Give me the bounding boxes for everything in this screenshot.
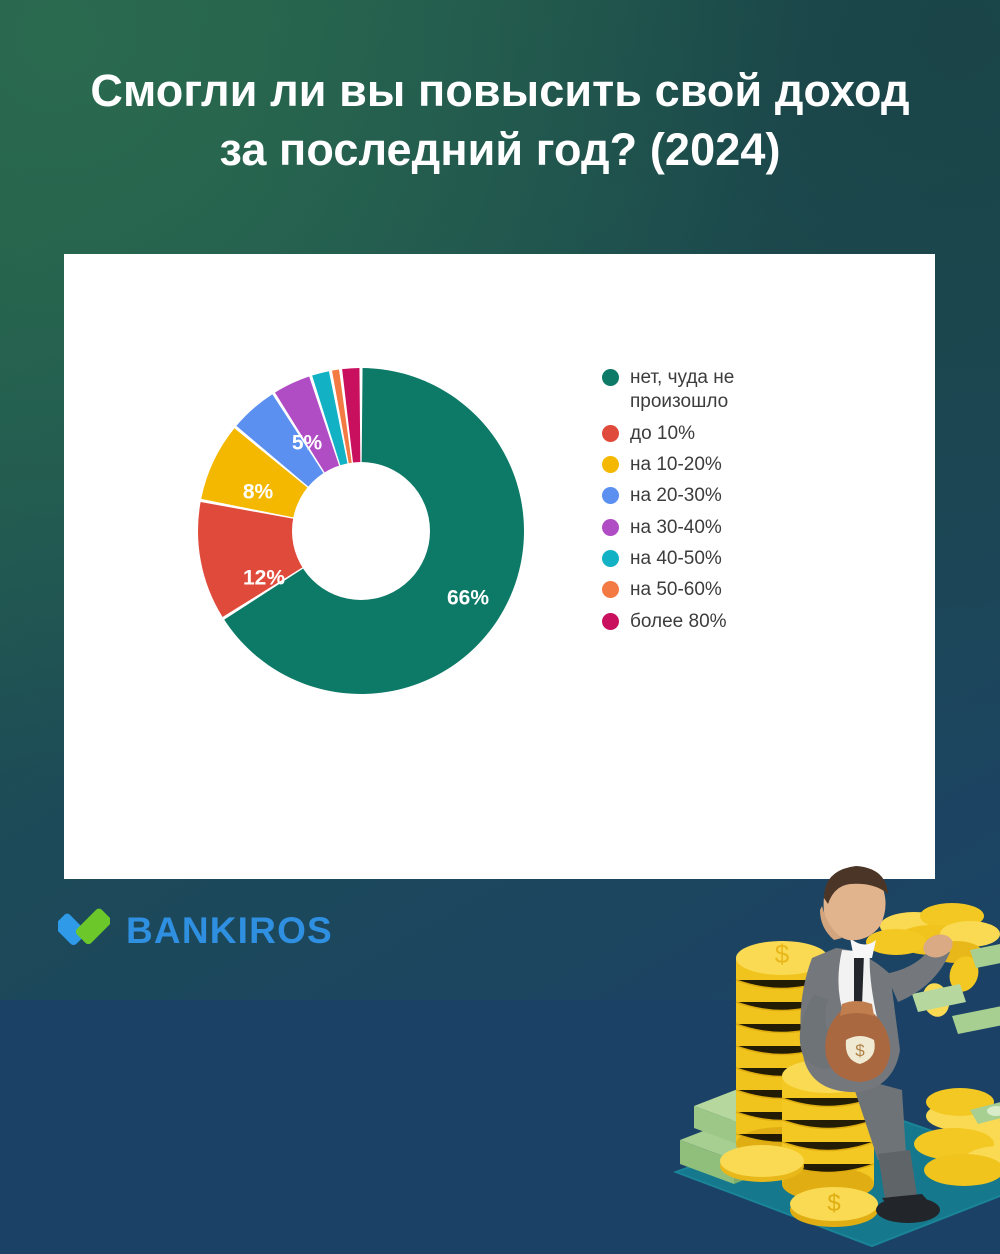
svg-text:$: $ (749, 1099, 755, 1111)
legend-item[interactable]: более 80% (602, 610, 832, 634)
figure-legs (850, 1076, 940, 1223)
legend-item-label: на 50-60% (630, 578, 722, 602)
donut-slice-value: 5% (292, 432, 323, 455)
legend-item[interactable]: на 10-20% (602, 453, 832, 477)
donut-chart: 66%12%8%5% (196, 366, 526, 696)
coin-pile-right (914, 1088, 1000, 1186)
loose-coins-front: $ (720, 1145, 878, 1227)
money-bag: $ (825, 1001, 890, 1082)
legend-item-label: на 30-40% (630, 516, 722, 540)
chart-legend: нет, чуда не произошлодо 10%на 10-20%на … (602, 366, 832, 641)
legend-color-swatch (602, 550, 619, 567)
svg-text:$: $ (827, 1190, 840, 1217)
legend-item[interactable]: нет, чуда не произошло (602, 366, 832, 415)
legend-item[interactable]: на 50-60% (602, 578, 832, 602)
donut-center-hole (292, 462, 430, 600)
donut-slice-value: 8% (243, 481, 274, 504)
legend-item-label: на 10-20% (630, 453, 722, 477)
legend-color-swatch (602, 613, 619, 630)
legend-color-swatch (602, 369, 619, 386)
legend-color-swatch (602, 487, 619, 504)
legend-color-swatch (602, 519, 619, 536)
legend-item-label: до 10% (630, 422, 695, 446)
legend-color-swatch (602, 456, 619, 473)
legend-item[interactable]: на 30-40% (602, 516, 832, 540)
donut-slice-value: 12% (243, 567, 285, 590)
bankiros-logo-text: BANKIROS (126, 910, 333, 952)
donut-slice-value: 66% (447, 587, 489, 610)
legend-item[interactable]: до 10% (602, 422, 832, 446)
legend-item[interactable]: на 20-30% (602, 484, 832, 508)
legend-item-label: на 40-50% (630, 547, 722, 571)
bankiros-logo-mark (58, 905, 110, 957)
legend-item-label: нет, чуда не произошло (630, 366, 734, 415)
legend-item-label: на 20-30% (630, 484, 722, 508)
svg-text:$: $ (855, 1041, 865, 1060)
cash-bundles: $ (680, 1082, 810, 1184)
legend-color-swatch (602, 425, 619, 442)
legend-item-label: более 80% (630, 610, 727, 634)
legend-item[interactable]: на 40-50% (602, 547, 832, 571)
legend-color-swatch (602, 581, 619, 598)
coin-stack-seat (782, 1059, 874, 1201)
page-title: Смогли ли вы повысить свой доход за посл… (0, 62, 1000, 179)
bankiros-logo[interactable]: BANKIROS (58, 905, 333, 957)
chart-card: 66%12%8%5% нет, чуда не произошлодо 10%н… (64, 254, 935, 879)
